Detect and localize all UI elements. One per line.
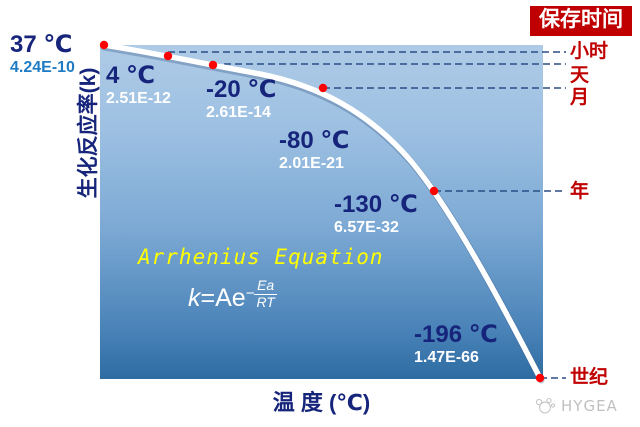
annotation-37-temp: 37 ℃ — [10, 32, 75, 57]
data-point-m196[interactable] — [536, 374, 544, 382]
annotation-4: 4 ℃ 2.51E-12 — [106, 63, 171, 110]
formula-fraction: EaRT — [254, 278, 276, 310]
chart-figure: 生化反应率(k) 温 度 (℃) 保存时间 37 ℃ 4.24E — [0, 0, 640, 427]
annotation-37: 37 ℃ 4.24E-10 — [10, 32, 75, 79]
annotation-4-value: 2.51E-12 — [106, 88, 171, 110]
formula-minus: − — [246, 286, 255, 301]
formula-numerator: Ea — [254, 278, 276, 295]
arrhenius-title: Arrhenius Equation — [138, 245, 384, 269]
data-point-m130[interactable] — [430, 187, 438, 195]
data-point-m80[interactable] — [319, 84, 327, 92]
formula-k: k — [188, 284, 201, 312]
annotation-m130: -130 ℃ 6.57E-32 — [334, 192, 418, 239]
data-point-4[interactable] — [164, 52, 172, 60]
time-label-hour: 小时 — [570, 42, 608, 61]
time-label-day: 天 — [570, 66, 589, 85]
time-label-month: 月 — [570, 88, 589, 107]
watermark-text: HYGEA — [561, 397, 618, 415]
annotation-m80: -80 ℃ 2.01E-21 — [279, 128, 349, 175]
annotation-m196-temp: -196 ℃ — [414, 322, 498, 347]
annotation-m20-temp: -20 ℃ — [206, 77, 276, 102]
annotation-m196: -196 ℃ 1.47E-66 — [414, 322, 498, 369]
annotation-m80-value: 2.01E-21 — [279, 153, 349, 175]
hygea-logo-icon — [534, 396, 556, 416]
curve-layer — [0, 0, 640, 427]
time-label-year: 年 — [570, 182, 589, 201]
time-label-century: 世纪 — [570, 368, 608, 387]
annotation-m20-value: 2.61E-14 — [206, 102, 276, 124]
annotation-m80-temp: -80 ℃ — [279, 128, 349, 153]
data-point-37[interactable] — [100, 41, 108, 49]
formula-equals: =Ae — [201, 284, 246, 312]
annotation-m20: -20 ℃ 2.61E-14 — [206, 77, 276, 124]
watermark: HYGEA — [534, 396, 618, 416]
annotation-m130-temp: -130 ℃ — [334, 192, 418, 217]
annotation-m196-value: 1.47E-66 — [414, 347, 498, 369]
annotation-4-temp: 4 ℃ — [106, 63, 171, 88]
annotation-m130-value: 6.57E-32 — [334, 217, 418, 239]
annotation-37-value: 4.24E-10 — [10, 57, 75, 79]
data-point-m20[interactable] — [209, 61, 217, 69]
formula-denominator: RT — [254, 295, 276, 311]
arrhenius-formula: k=Ae−EaRT — [188, 283, 277, 315]
